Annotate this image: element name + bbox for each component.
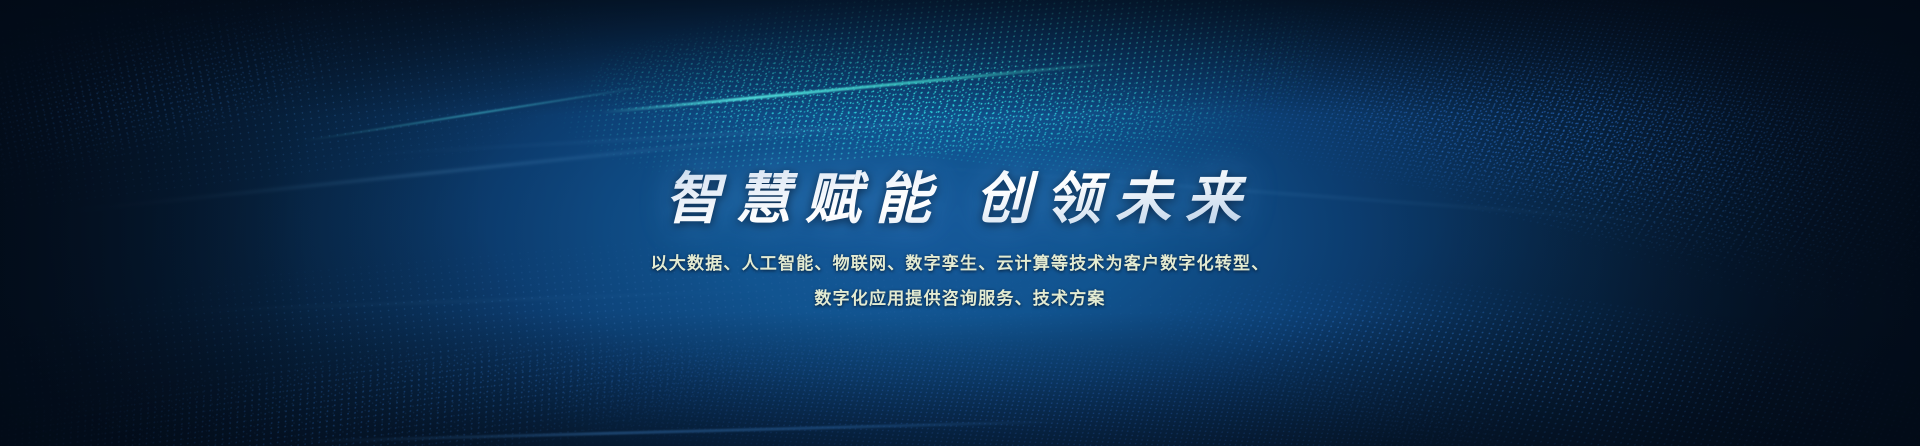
page-title: 智慧赋能创领未来: [0, 0, 1920, 231]
subtitle-line-1: 以大数据、人工智能、物联网、数字孪生、云计算等技术为客户数字化转型、: [0, 247, 1920, 282]
subtitle-line-2: 数字化应用提供咨询服务、技术方案: [0, 282, 1920, 317]
hero-banner: 智慧赋能创领未来 以大数据、人工智能、物联网、数字孪生、云计算等技术为客户数字化…: [0, 0, 1920, 446]
headline-part-1: 智慧赋能: [665, 167, 945, 230]
banner-content: 智慧赋能创领未来 以大数据、人工智能、物联网、数字孪生、云计算等技术为客户数字化…: [0, 0, 1920, 316]
page-subtitle: 以大数据、人工智能、物联网、数字孪生、云计算等技术为客户数字化转型、 数字化应用…: [0, 231, 1920, 317]
headline-part-2: 创领未来: [975, 167, 1255, 230]
